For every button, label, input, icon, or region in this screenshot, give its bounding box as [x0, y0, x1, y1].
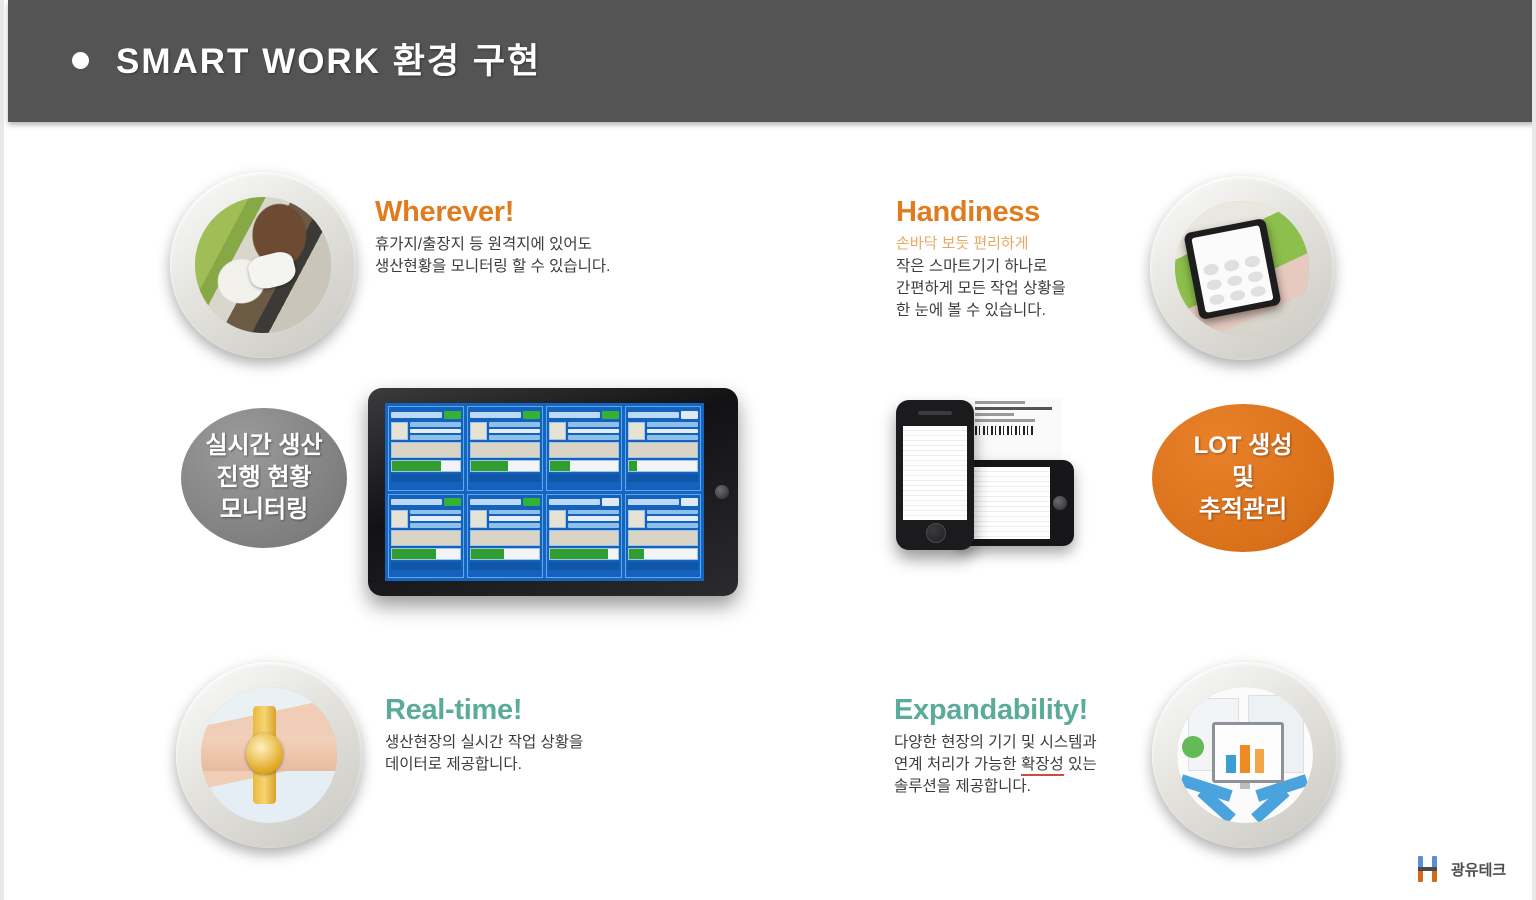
dashboard-panel [388, 494, 464, 579]
dashboard-panel [467, 494, 543, 579]
callout-line: 모니터링 [220, 494, 308, 526]
feature-line: 다양한 현장의 기기 및 시스템과 [894, 732, 1097, 754]
feature-title-wherever: Wherever! [375, 196, 610, 229]
phone-landscape-screen [965, 467, 1050, 539]
company-logo-text: 광유테크 [1451, 859, 1506, 880]
page-title: SMART WORK 환경 구현 [116, 33, 541, 84]
callout-line: LOT 생성 [1194, 430, 1293, 462]
field-worker-tablet-photo [195, 197, 331, 333]
feature-line: 솔루션을 제공합니다. [894, 776, 1097, 798]
gold-wristwatch-photo [201, 687, 337, 823]
feature-line: 생산현황을 모니터링 할 수 있습니다. [375, 256, 610, 278]
feature-title-expandability: Expandability! [894, 694, 1097, 727]
slide-header: SMART WORK 환경 구현 [8, 0, 1536, 122]
realtime-photo-medallion [176, 662, 362, 848]
feature-line: 작은 스마트기기 하나로 [896, 256, 1066, 278]
phone-in-photo [1183, 218, 1281, 321]
callout-monitoring: 실시간 생산 진행 현황 모니터링 [181, 408, 347, 548]
slide-root: SMART WORK 환경 구현 Wherever! 휴가지/출장지 등 원격지… [0, 0, 1536, 900]
callout-line: 진행 현황 [217, 462, 312, 494]
dashboard-panel [625, 406, 701, 491]
phone-home-button[interactable] [1053, 496, 1067, 510]
feature-block-expandability: Expandability! 다양한 현장의 기기 및 시스템과 연계 처리가 … [894, 694, 1097, 798]
dashboard-panel [467, 406, 543, 491]
feature-line: 생산현장의 실시간 작업 상황을 [385, 732, 583, 754]
expandability-photo-medallion [1152, 662, 1338, 848]
tablet-screen-dashboard [385, 403, 704, 581]
feature-block-handiness: Handiness 손바닥 보듯 편리하게 작은 스마트기기 하나로 간편하게 … [896, 196, 1066, 322]
callout-line: 및 [1232, 462, 1254, 494]
phone-home-button[interactable] [926, 523, 946, 543]
feature-line: 한 눈에 볼 수 있습니다. [896, 300, 1066, 322]
feature-title-handiness: Handiness [896, 196, 1066, 229]
feature-line: 휴가지/출장지 등 원격지에 있어도 [375, 234, 610, 256]
feature-block-wherever: Wherever! 휴가지/출장지 등 원격지에 있어도 생산현황을 모니터링 … [375, 196, 610, 278]
callout-lot-tracking: LOT 생성 및 추적관리 [1152, 404, 1334, 552]
phone-speaker-icon [918, 411, 952, 415]
highlight-word: 확장성 [1021, 756, 1064, 776]
footer-logo: 광유테크 [1416, 856, 1506, 882]
feature-line-highlighted: 연계 처리가 가능한 확장성 있는 [894, 754, 1097, 776]
handiness-photo-medallion [1150, 176, 1334, 360]
feature-subtitle: 손바닥 보듯 편리하게 [896, 234, 1066, 254]
smartphone-portrait [896, 400, 974, 550]
tablet-home-button[interactable] [715, 485, 729, 499]
hand-holding-phone-keypad-photo [1175, 201, 1309, 335]
feature-block-realtime: Real-time! 생산현장의 실시간 작업 상황을 데이터로 제공합니다. [385, 694, 583, 776]
feature-title-realtime: Real-time! [385, 694, 583, 727]
feature-line: 간편하게 모든 작업 상황을 [896, 278, 1066, 300]
dashboard-panel [546, 406, 622, 491]
dashboard-panel [625, 494, 701, 579]
phone-portrait-screen [903, 426, 967, 520]
company-logo-mark [1416, 856, 1444, 882]
wherever-photo-medallion [170, 172, 356, 358]
tablet-device [368, 388, 738, 596]
dashboard-panel [546, 494, 622, 579]
barcode-label-document [972, 398, 1062, 464]
bullet-dot-icon [72, 52, 89, 69]
dashboard-panel [388, 406, 464, 491]
callout-line: 실시간 생산 [205, 430, 322, 462]
callout-line: 추적관리 [1199, 494, 1287, 526]
system-expandability-diagram-photo [1177, 687, 1313, 823]
feature-line: 데이터로 제공합니다. [385, 754, 583, 776]
